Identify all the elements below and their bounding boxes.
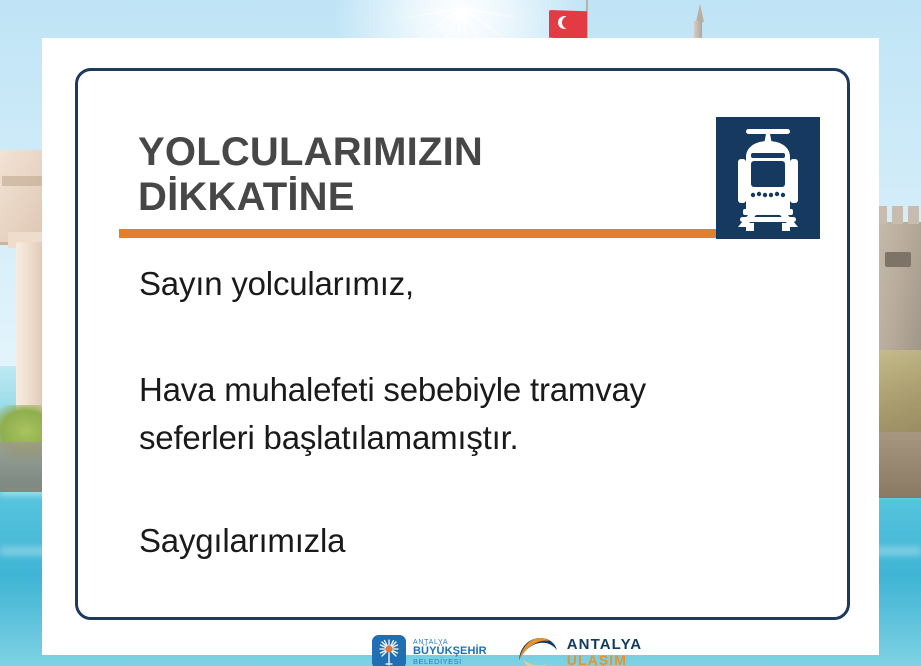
antalya-sun-emblem-icon bbox=[372, 635, 406, 666]
notice-poster: YOLCULARIMIZIN DİKKATİNE bbox=[0, 0, 921, 666]
title-divider bbox=[119, 229, 716, 238]
turkish-flag-icon bbox=[549, 10, 587, 40]
transit-line-1: ANTALYA bbox=[567, 637, 643, 652]
transit-logo: ANTALYA ULAŞIM bbox=[515, 630, 643, 666]
page-title: YOLCULARIMIZIN DİKKATİNE bbox=[138, 130, 698, 220]
municipality-wordmark: ANTALYA BÜYÜKŞEHİR BELEDİYESİ bbox=[413, 639, 487, 666]
municipality-line-3: BELEDİYESİ bbox=[413, 658, 487, 666]
tram-icon bbox=[716, 117, 820, 239]
body-message-line-1: Hava muhalefeti sebebiyle tramvay bbox=[139, 366, 829, 414]
page-title-line-1: YOLCULARIMIZIN bbox=[138, 130, 698, 175]
transit-line-2: ULAŞIM bbox=[567, 653, 643, 666]
page-title-line-2: DİKKATİNE bbox=[138, 175, 698, 220]
footer-logos: ANTALYA BÜYÜKŞEHİR BELEDİYESİ ANTALYA UL bbox=[372, 626, 642, 666]
antalya-ulasim-swoosh-icon bbox=[515, 630, 561, 666]
body-greeting: Sayın yolcularımız, bbox=[139, 260, 829, 308]
body-message-line-2: seferleri başlatılamamıştır. bbox=[139, 414, 829, 462]
notice-card: YOLCULARIMIZIN DİKKATİNE bbox=[42, 38, 879, 655]
municipality-line-2: BÜYÜKŞEHİR bbox=[413, 646, 487, 658]
notice-body: Sayın yolcularımız, Hava muhalefeti sebe… bbox=[139, 260, 829, 564]
transit-wordmark: ANTALYA ULAŞIM bbox=[567, 637, 643, 666]
municipality-logo: ANTALYA BÜYÜKŞEHİR BELEDİYESİ bbox=[372, 635, 487, 666]
body-closing: Saygılarımızla bbox=[139, 517, 829, 565]
